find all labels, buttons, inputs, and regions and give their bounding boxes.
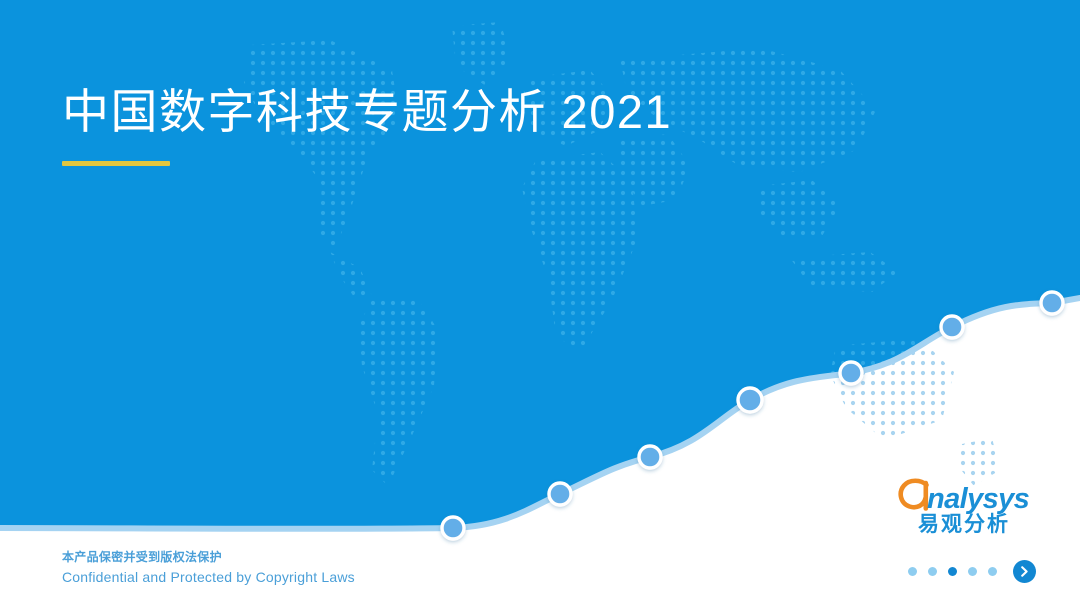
chart-marker [840,362,862,384]
pagination-dot[interactable] [988,567,997,576]
chart-marker [1041,292,1063,314]
confidential-notice-cn: 本产品保密并受到版权法保护 [62,548,355,567]
logo-chinese-name: 易观分析 [896,513,1032,536]
chart-marker [442,517,464,539]
svg-text:nalysys: nalysys [927,483,1030,514]
pagination-dot-active[interactable] [948,567,957,576]
pagination-dot[interactable] [968,567,977,576]
pagination-dot[interactable] [908,567,917,576]
logo-wordmark-svg: nalysys [896,478,1032,514]
chart-marker [941,316,963,338]
pagination-dot[interactable] [928,567,937,576]
title-accent-bar [62,161,170,166]
page-title: 中国数字科技专题分析 2021 [62,82,672,142]
next-slide-button[interactable] [1013,560,1036,583]
analysys-logo: nalysys 易观分析 [896,478,1032,536]
chart-marker [549,483,571,505]
slide-pagination [908,560,1036,583]
chart-marker [639,446,661,468]
report-cover-slide: 中国数字科技专题分析 2021 本产品保密并受到版权法保护 Confidenti… [0,0,1080,608]
chevron-right-icon [1019,566,1030,577]
chart-marker [738,388,762,412]
confidential-notice-en: Confidential and Protected by Copyright … [62,567,355,589]
confidential-notice: 本产品保密并受到版权法保护 Confidential and Protected… [62,548,355,588]
title-block: 中国数字科技专题分析 2021 [62,82,672,166]
logo-wordmark: nalysys [896,478,1032,514]
